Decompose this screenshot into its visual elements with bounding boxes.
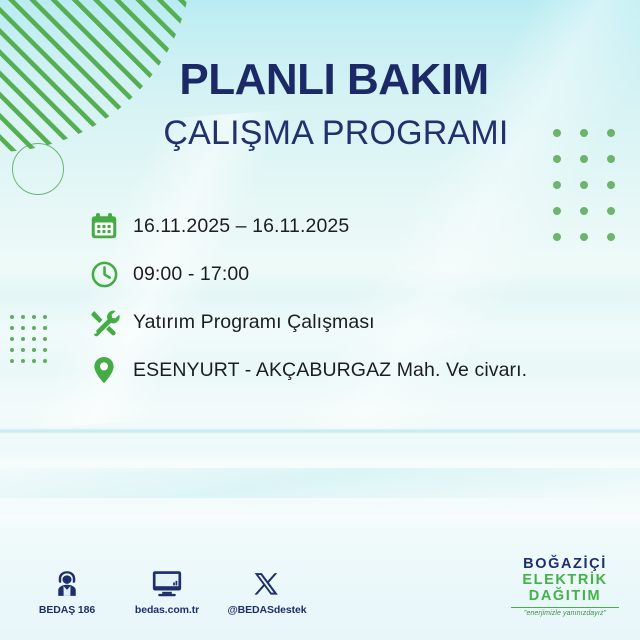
page-title: PLANLI BAKIM — [0, 58, 640, 102]
footer-label-call-center: BEDAŞ 186 — [39, 604, 95, 616]
maintenance-location: ESENYURT - AKÇABURGAZ Mah. Ve civarı. — [133, 359, 527, 382]
location-pin-icon — [86, 352, 122, 388]
footer-label-x-account: @BEDASdestek — [227, 604, 306, 616]
maintenance-details-list: 16.11.2025 – 16.11.2025 09:00 - 17:00 — [86, 202, 606, 394]
bedas-brand-logo: BOĞAZİÇİ ELEKTRİK DAĞITIM "enerjimizle y… — [504, 556, 626, 617]
x-twitter-icon — [253, 565, 281, 599]
page-subtitle: ÇALIŞMA PROGRAMI — [0, 116, 640, 150]
background-wave-band-2 — [0, 452, 640, 474]
poster-title-block: PLANLI BAKIM ÇALIŞMA PROGRAMI — [0, 58, 640, 150]
tools-icon — [86, 304, 122, 340]
brand-tagline: "enerjimizle yanınızdayız" — [504, 610, 626, 617]
monitor-icon — [151, 565, 183, 599]
info-row-time: 09:00 - 17:00 — [86, 250, 606, 298]
maintenance-date-range: 16.11.2025 – 16.11.2025 — [133, 215, 349, 238]
footer-item-website[interactable]: bedas.com.tr — [128, 565, 206, 616]
background-wave-band-4 — [0, 505, 640, 531]
background-wave-band-3 — [0, 468, 640, 498]
calendar-icon — [86, 208, 122, 244]
footer-item-call-center[interactable]: BEDAŞ 186 — [28, 565, 106, 616]
maintenance-time-range: 09:00 - 17:00 — [133, 263, 249, 286]
background-wave-band-1 — [0, 428, 640, 434]
brand-divider — [511, 607, 619, 608]
dot-grid-left-decoration — [10, 315, 54, 370]
brand-line-elektrik: ELEKTRİK — [504, 572, 626, 588]
clock-icon — [86, 256, 122, 292]
planned-maintenance-poster: PLANLI BAKIM ÇALIŞMA PROGRAMI — [0, 0, 640, 640]
headset-support-icon — [52, 565, 82, 599]
info-row-location: ESENYURT - AKÇABURGAZ Mah. Ve civarı. — [86, 346, 606, 394]
circle-outline-decoration — [12, 143, 64, 195]
footer-label-website: bedas.com.tr — [135, 604, 199, 616]
brand-line-bogazici: BOĞAZİÇİ — [504, 556, 626, 572]
info-row-work-type: Yatırım Programı Çalışması — [86, 298, 606, 346]
maintenance-work-type: Yatırım Programı Çalışması — [133, 311, 375, 334]
footer-item-x-account[interactable]: @BEDASdestek — [228, 565, 306, 616]
info-row-date: 16.11.2025 – 16.11.2025 — [86, 202, 606, 250]
footer-contact-links: BEDAŞ 186 bedas.com.tr @B — [28, 565, 306, 616]
brand-line-dagitim: DAĞITIM — [504, 588, 626, 604]
